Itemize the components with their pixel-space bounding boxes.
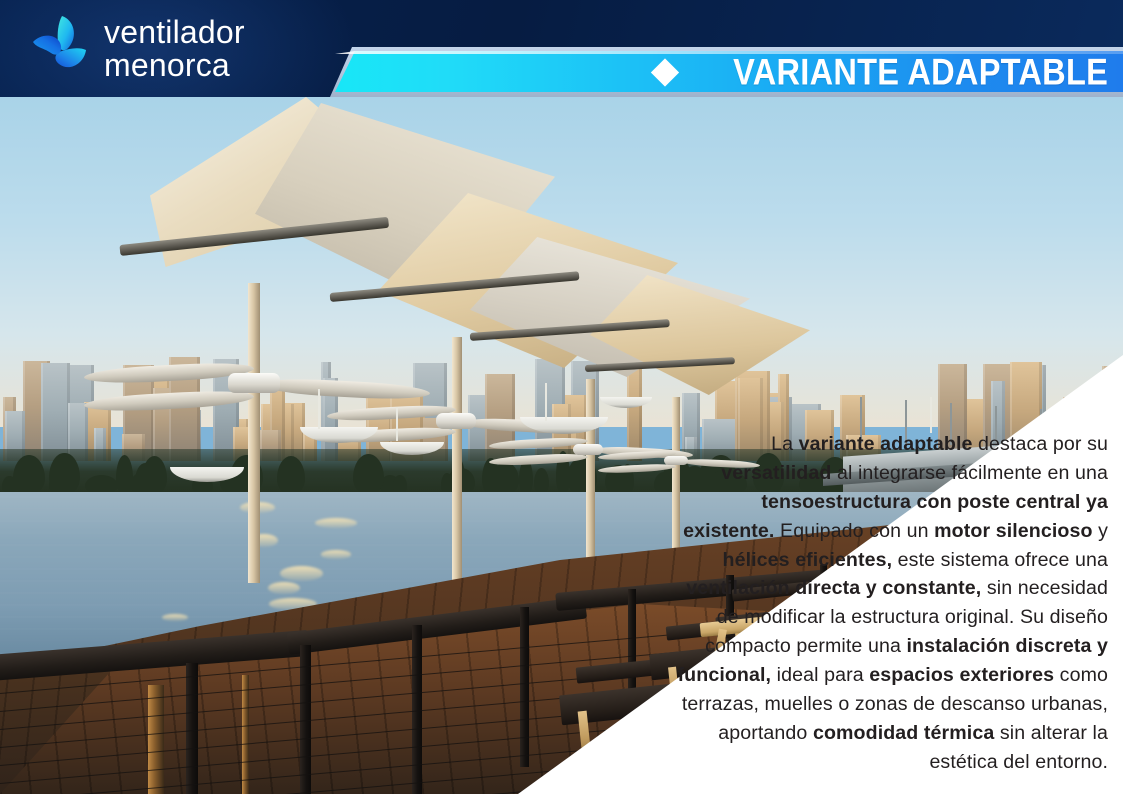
- rail-post-lit: [148, 685, 164, 794]
- diamond-bullet-icon: [651, 58, 679, 86]
- tree: [353, 454, 384, 493]
- fan-hub: [436, 413, 476, 428]
- support-pole: [586, 379, 595, 579]
- tree: [393, 475, 406, 493]
- title-banner: VARIANTE ADAPTABLE: [330, 47, 1123, 97]
- copy-text: destaca por su: [973, 433, 1108, 455]
- brand-line-2: menorca: [104, 50, 245, 81]
- copy-emphasis: ventilación directa y constante,: [686, 577, 981, 599]
- tree: [534, 468, 549, 493]
- sun-glint: [315, 518, 357, 528]
- copy-text: La: [771, 433, 799, 455]
- copy-emphasis: versatilidad: [721, 462, 831, 484]
- rail-post: [520, 607, 529, 767]
- sun-glint: [162, 614, 188, 621]
- header-bar: ventilador menorca VARIANTE ADAPTABLE: [0, 0, 1123, 97]
- rail-post: [186, 663, 198, 794]
- copy-text: este sistema ofrece una: [892, 549, 1108, 571]
- copy-emphasis: motor silencioso: [934, 520, 1092, 542]
- sailboat-mast: [396, 407, 398, 441]
- copy-text: ideal para: [771, 664, 869, 686]
- support-pole: [452, 337, 462, 587]
- sun-glint: [321, 550, 352, 559]
- copy-emphasis: variante adaptable: [799, 433, 973, 455]
- slide-page: ventilador menorca VARIANTE ADAPTABLE: [0, 0, 1123, 794]
- brand-logo[interactable]: ventilador menorca: [28, 12, 245, 86]
- sailboat-mast: [318, 389, 320, 429]
- copy-text: al integrarse fácilmente en una: [831, 462, 1108, 484]
- sailboat-mast: [545, 383, 547, 421]
- banner-title: VARIANTE ADAPTABLE: [655, 54, 1108, 91]
- description-copy: La variante adaptable destaca por su ver…: [668, 430, 1108, 777]
- copy-emphasis: espacios exteriores: [869, 664, 1054, 686]
- tree: [13, 455, 45, 493]
- fan-blades-icon: [28, 12, 90, 86]
- support-pole: [248, 283, 260, 583]
- brand-line-1: ventilador: [104, 17, 245, 48]
- copy-emphasis: hélices eficientes,: [723, 549, 893, 571]
- tree: [49, 453, 79, 493]
- tree: [85, 475, 118, 493]
- rail-post-lit: [242, 675, 249, 794]
- copy-text: Equipado con un: [774, 520, 934, 542]
- building: [41, 363, 70, 461]
- fan-hub: [573, 444, 603, 456]
- brand-wordmark: ventilador menorca: [104, 17, 245, 82]
- sun-glint: [268, 582, 300, 594]
- copy-emphasis: comodidad térmica: [813, 722, 994, 744]
- fan-hub: [228, 373, 280, 393]
- copy-text: y: [1093, 520, 1108, 542]
- tree: [135, 463, 156, 493]
- banner-title-text: VARIANTE ADAPTABLE: [733, 54, 1108, 91]
- sailboat-mast: [930, 397, 932, 433]
